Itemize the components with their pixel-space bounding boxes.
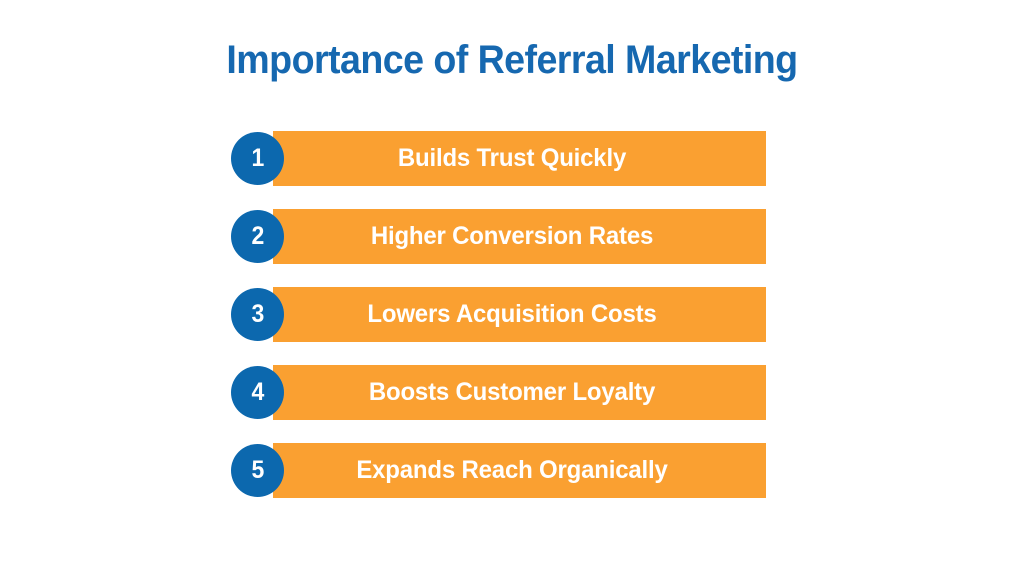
list-item-number-badge: 5 xyxy=(231,444,284,497)
list-item[interactable]: Expands Reach Organically 5 xyxy=(0,443,1024,498)
list-item-bar xyxy=(273,131,766,186)
list-item-number-badge: 4 xyxy=(231,366,284,419)
list-item-number: 4 xyxy=(251,380,264,405)
list-item-number: 1 xyxy=(251,146,264,171)
list-item-bar xyxy=(273,443,766,498)
page-title: Importance of Referral Marketing xyxy=(31,36,994,84)
list-item-number: 2 xyxy=(251,224,264,249)
list-item[interactable]: Builds Trust Quickly 1 xyxy=(0,131,1024,186)
list-item-number: 3 xyxy=(251,302,264,327)
list-item-number-badge: 2 xyxy=(231,210,284,263)
list-item[interactable]: Boosts Customer Loyalty 4 xyxy=(0,365,1024,420)
benefits-list: Builds Trust Quickly 1 Higher Conversion… xyxy=(0,131,1024,498)
list-item-bar xyxy=(273,209,766,264)
list-item-number-badge: 1 xyxy=(231,132,284,185)
slide-canvas: Importance of Referral Marketing Builds … xyxy=(0,0,1024,576)
list-item-bar xyxy=(273,287,766,342)
list-item-number: 5 xyxy=(251,458,264,483)
list-item[interactable]: Higher Conversion Rates 2 xyxy=(0,209,1024,264)
list-item[interactable]: Lowers Acquisition Costs 3 xyxy=(0,287,1024,342)
list-item-bar xyxy=(273,365,766,420)
list-item-number-badge: 3 xyxy=(231,288,284,341)
